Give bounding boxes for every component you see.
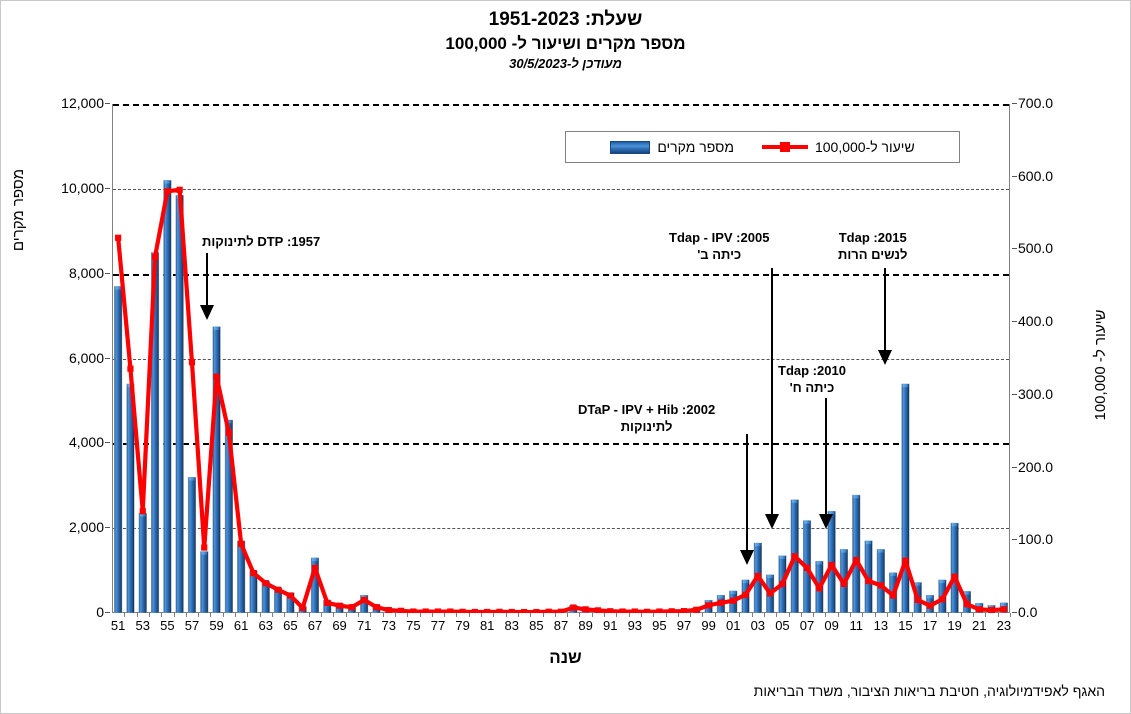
bar-highlight [189, 477, 195, 480]
x-axis-tickmark [370, 613, 371, 617]
x-axis-tickmark [272, 613, 273, 617]
x-axis-tick-label: 59 [204, 618, 230, 633]
x-axis-tickmark [395, 613, 396, 617]
x-axis-tickmark [297, 613, 298, 617]
x-axis-tick-label: 17 [917, 618, 943, 633]
x-axis-tickmark [899, 613, 900, 617]
rate-marker [509, 609, 515, 613]
x-axis-tick-label: 21 [966, 618, 992, 633]
x-axis-tick-label: 19 [942, 618, 968, 633]
rate-marker [533, 609, 539, 613]
rate-marker [152, 254, 158, 260]
x-axis-tickmark [850, 613, 851, 617]
rate-marker [127, 366, 133, 372]
x-axis-tickmark [346, 613, 347, 617]
rate-marker [595, 607, 601, 613]
rate-marker [583, 606, 589, 612]
x-axis-tickmark [998, 613, 999, 617]
bar [188, 477, 196, 613]
bar-highlight [312, 558, 318, 561]
bar-highlight [890, 573, 896, 576]
rate-marker [706, 602, 712, 608]
rate-marker [829, 562, 835, 568]
x-axis-tick-label: 97 [671, 618, 697, 633]
x-axis-tick-label: 65 [277, 618, 303, 633]
x-axis-tickmark [543, 613, 544, 617]
annotation-2010-label: 2010: Tdap כיתה ח' [778, 362, 846, 396]
x-axis-tickmark [838, 613, 839, 617]
x-axis-tickmark [715, 613, 716, 617]
rate-marker [607, 608, 613, 613]
bar-highlight [214, 327, 220, 330]
x-axis-tickmark [493, 613, 494, 617]
chart-title-block: שעלת: 1951-2023 מספר מקרים ושיעור ל- 100… [0, 8, 1131, 73]
x-axis-tickmark [875, 613, 876, 617]
legend-item-line: שיעור ל-100,000 [762, 139, 915, 155]
rate-marker [373, 604, 379, 610]
y-axis-left-tick-label: 2,000 [32, 519, 104, 535]
rate-marker [890, 592, 896, 598]
x-axis-tickmark [333, 613, 334, 617]
rate-marker [238, 541, 244, 547]
x-axis-tickmark [887, 613, 888, 617]
rate-marker [300, 605, 306, 611]
x-axis-tick-label: 73 [376, 618, 402, 633]
bar-highlight [952, 523, 958, 526]
bar-highlight [804, 521, 810, 524]
x-axis-tick-label: 99 [696, 618, 722, 633]
x-axis-tickmark [506, 613, 507, 617]
bar [902, 384, 910, 613]
bar [114, 286, 122, 613]
bar-highlight [767, 575, 773, 578]
x-axis-tick-label: 89 [573, 618, 599, 633]
x-axis-tick-label: 83 [499, 618, 525, 633]
y-axis-left-tick-label: 4,000 [32, 434, 104, 450]
bar-highlight [718, 595, 724, 598]
x-axis-tickmark [690, 613, 691, 617]
bar-highlight [866, 541, 872, 544]
rate-marker [693, 607, 699, 613]
x-axis-tickmark [666, 613, 667, 617]
rate-marker [521, 609, 527, 613]
annotation-2005-arrow [761, 268, 785, 530]
rate-marker [988, 607, 994, 613]
rate-marker [115, 235, 121, 241]
x-axis-tickmark [776, 613, 777, 617]
y-axis-right-tick-label: 100.0 [1018, 531, 1098, 547]
x-axis-tick-label: 67 [302, 618, 328, 633]
chart-update-note: מעודכן ל-30/5/2023 [0, 55, 1131, 73]
x-axis-tick-label: 23 [991, 618, 1017, 633]
x-axis-tickmark [727, 613, 728, 617]
bar-highlight [780, 556, 786, 559]
x-axis-tickmark [641, 613, 642, 617]
x-axis-tickmark [678, 613, 679, 617]
legend-line-swatch [762, 142, 808, 152]
x-axis-tickmark [789, 613, 790, 617]
rate-marker [779, 581, 785, 587]
x-axis-tickmark [530, 613, 531, 617]
bar-highlight [730, 591, 736, 594]
bar [164, 180, 172, 613]
rate-marker [976, 606, 982, 612]
bar [200, 552, 208, 614]
x-axis-tickmark [702, 613, 703, 617]
x-axis-tick-label: 61 [228, 618, 254, 633]
rate-marker [287, 592, 293, 598]
x-axis-tickmark [579, 613, 580, 617]
x-axis-tickmark [444, 613, 445, 617]
rate-marker [878, 582, 884, 588]
x-axis-tick-label: 13 [868, 618, 894, 633]
rate-marker [730, 598, 736, 604]
y-axis-left-tick-label: 0 [32, 604, 104, 620]
x-axis-tick-label: 81 [474, 618, 500, 633]
rate-marker [447, 608, 453, 613]
rate-marker [816, 585, 822, 591]
rate-marker [902, 558, 908, 564]
bar-highlight [964, 591, 970, 594]
rate-marker [398, 608, 404, 613]
chart-subtitle: מספר מקרים ושיעור ל- 100,000 [0, 32, 1131, 55]
x-axis-tickmark [321, 613, 322, 617]
x-axis-tickmark [309, 613, 310, 617]
legend-item-bars: מספר מקרים [610, 139, 734, 155]
x-axis-tickmark [629, 613, 630, 617]
bar-highlight [1001, 603, 1007, 606]
y-axis-right-tick-label: 400.0 [1018, 313, 1098, 329]
bar-highlight [878, 549, 884, 552]
x-axis-tickmark [124, 613, 125, 617]
rate-marker [915, 597, 921, 603]
rate-marker [742, 592, 748, 598]
bar-highlight [915, 582, 921, 585]
rate-marker [853, 557, 859, 563]
x-axis-tickmark [973, 613, 974, 617]
x-axis-tick-label: 55 [154, 618, 180, 633]
x-axis-tickmark [739, 613, 740, 617]
rate-marker [177, 187, 183, 193]
y-axis-right-tick-label: 0.0 [1018, 604, 1098, 620]
x-axis-tickmark [432, 613, 433, 617]
x-axis-tickmark [420, 613, 421, 617]
bar [139, 513, 147, 613]
x-axis-tickmark [912, 613, 913, 617]
x-axis-tickmark [825, 613, 826, 617]
legend-bar-swatch [610, 141, 650, 154]
bar-highlight [927, 595, 933, 598]
bar-highlight [817, 561, 823, 564]
rate-marker [570, 604, 576, 610]
rate-marker [718, 600, 724, 606]
rate-marker [927, 603, 933, 609]
x-axis-tickmark [653, 613, 654, 617]
x-axis-tick-label: 53 [130, 618, 156, 633]
x-axis-tickmark [161, 613, 162, 617]
x-axis-tick-label: 09 [819, 618, 845, 633]
y-axis-left-tick-label: 8,000 [32, 265, 104, 281]
x-axis-tickmark [284, 613, 285, 617]
x-axis-tickmark [174, 613, 175, 617]
footer-credit: האגף לאפידמיולוגיה, חטיבת בריאות הציבור,… [754, 683, 1105, 699]
bar-highlight [841, 549, 847, 552]
y-axis-left-tick-label: 12,000 [32, 95, 104, 111]
bar-highlight [743, 580, 749, 583]
rate-marker [410, 608, 416, 613]
x-axis-tick-label: 05 [769, 618, 795, 633]
x-axis-tickmark [247, 613, 248, 617]
annotation-2005-label: 2005: Tdap - IPV כיתה ב' [669, 229, 769, 263]
rate-marker [275, 587, 281, 593]
annotation-1957-arrow [196, 253, 220, 321]
rate-marker [324, 600, 330, 606]
x-axis-tickmark [469, 613, 470, 617]
y-axis-right-tick-label: 700.0 [1018, 95, 1098, 111]
rate-marker [312, 565, 318, 571]
x-axis-tick-label: 95 [646, 618, 672, 633]
rate-marker [386, 607, 392, 613]
bar [852, 495, 860, 613]
rate-marker [361, 597, 367, 603]
rate-marker [656, 608, 662, 613]
rate-marker [755, 573, 761, 579]
x-axis-tickmark [616, 613, 617, 617]
bar [877, 549, 885, 613]
rate-marker [435, 608, 441, 613]
bar-highlight [115, 286, 121, 289]
x-axis-tickmark [1010, 613, 1011, 617]
x-axis-tickmark [198, 613, 199, 617]
rate-marker [250, 570, 256, 576]
bar-highlight [903, 384, 909, 387]
x-axis-tickmark [948, 613, 949, 617]
x-axis-tick-label: 03 [745, 618, 771, 633]
y-axis-right-tick-label: 300.0 [1018, 386, 1098, 402]
rate-marker [681, 608, 687, 613]
bar-highlight [792, 500, 798, 503]
page-title: שעלת: 1951-2023 [0, 8, 1131, 32]
rate-marker [644, 609, 650, 613]
annotation-2002-arrow [736, 434, 760, 566]
annotation-2002-label: 2002: DTaP - IPV + Hib לתינוקות [578, 401, 715, 435]
x-axis-tickmark [456, 613, 457, 617]
annotation-1957-label: 1957: DTP לתינוקות [202, 233, 320, 250]
x-axis-tickmark [260, 613, 261, 617]
x-axis-tickmark [813, 613, 814, 617]
x-axis-tickmark [407, 613, 408, 617]
x-axis-tickmark [801, 613, 802, 617]
annotation-2010-arrow [815, 398, 839, 530]
x-axis-tick-label: 57 [179, 618, 205, 633]
x-axis-tickmark [481, 613, 482, 617]
x-axis-tick-label: 85 [523, 618, 549, 633]
rate-marker [669, 608, 675, 613]
x-axis-tickmark [862, 613, 863, 617]
x-axis-tickmark [961, 613, 962, 617]
x-axis-tickmark [924, 613, 925, 617]
bar [176, 195, 184, 613]
bar-highlight [201, 552, 207, 555]
rate-marker [189, 359, 195, 365]
x-axis-tick-label: 63 [253, 618, 279, 633]
rate-marker [201, 544, 207, 550]
bar-highlight [976, 603, 982, 606]
x-axis-tick-label: 91 [597, 618, 623, 633]
x-axis-tickmark [604, 613, 605, 617]
bar [213, 327, 221, 613]
x-axis-tickmark [985, 613, 986, 617]
x-axis-tick-label: 77 [425, 618, 451, 633]
x-axis-tick-label: 87 [548, 618, 574, 633]
rate-marker [263, 580, 269, 586]
x-axis-tickmark [137, 613, 138, 617]
x-axis-tickmark [567, 613, 568, 617]
bar [951, 523, 959, 613]
x-axis-tickmark [764, 613, 765, 617]
rate-marker [336, 603, 342, 609]
x-axis-tick-label: 07 [794, 618, 820, 633]
x-axis-tick-label: 75 [400, 618, 426, 633]
rate-marker [226, 430, 232, 436]
x-axis-tick-label: 71 [351, 618, 377, 633]
rate-marker [952, 574, 958, 580]
x-axis-tickmark [555, 613, 556, 617]
y-axis-right-tick-label: 200.0 [1018, 459, 1098, 475]
bar-highlight [940, 580, 946, 583]
y-axis-left-tick-label: 10,000 [32, 180, 104, 196]
rate-marker [558, 609, 564, 613]
rate-marker [423, 608, 429, 613]
x-axis-tickmark [592, 613, 593, 617]
rate-marker [841, 581, 847, 587]
rate-marker [767, 590, 773, 596]
x-axis-tick-label: 79 [450, 618, 476, 633]
rate-marker [1001, 606, 1007, 612]
rate-marker [140, 508, 146, 514]
x-axis-tick-label: 69 [327, 618, 353, 633]
rate-marker [213, 374, 219, 380]
x-axis-tick-label: 93 [622, 618, 648, 633]
x-axis-tickmark [223, 613, 224, 617]
x-axis-tick-label: 51 [105, 618, 131, 633]
rate-marker [496, 609, 502, 613]
x-axis-tickmark [186, 613, 187, 617]
x-axis-tickmark [149, 613, 150, 617]
legend-label-cases: מספר מקרים [657, 139, 734, 155]
y-axis-right-tick-label: 600.0 [1018, 168, 1098, 184]
x-axis-title: שנה [0, 648, 1131, 668]
rate-marker [459, 609, 465, 613]
x-axis-tickmark [752, 613, 753, 617]
rate-marker [349, 604, 355, 610]
y-axis-left-title: מספר מקרים [10, 120, 27, 300]
x-axis-tickmark [235, 613, 236, 617]
y-axis-right-title: שיעור ל- 100,000 [1092, 250, 1109, 480]
x-axis-tickmark [210, 613, 211, 617]
chart-legend: שיעור ל-100,000 מספר מקרים [565, 131, 960, 163]
x-axis-tick-label: 01 [720, 618, 746, 633]
rate-marker [939, 596, 945, 602]
rate-marker [792, 553, 798, 559]
rate-marker [804, 565, 810, 571]
rate-marker [484, 609, 490, 613]
rate-marker [619, 608, 625, 613]
rate-marker [865, 578, 871, 584]
x-axis-tickmark [358, 613, 359, 617]
y-axis-left-tick-label: 6,000 [32, 350, 104, 366]
x-axis-tick-label: 11 [843, 618, 869, 633]
x-axis-tick-label: 15 [892, 618, 918, 633]
y-axis-right-tick-label: 500.0 [1018, 240, 1098, 256]
bar-highlight [853, 495, 859, 498]
x-axis-tickmark [383, 613, 384, 617]
annotation-2015-arrow [874, 268, 898, 366]
legend-label-rate: שיעור ל-100,000 [815, 139, 915, 155]
annotation-2015-label: 2015: Tdap לנשים הרות [838, 229, 907, 263]
x-axis-tickmark [936, 613, 937, 617]
rate-marker [472, 609, 478, 613]
rate-marker [546, 609, 552, 613]
bar-highlight [165, 180, 171, 183]
rate-marker [964, 601, 970, 607]
rate-marker [164, 188, 170, 194]
x-axis-tickmark [518, 613, 519, 617]
rate-marker [632, 608, 638, 613]
